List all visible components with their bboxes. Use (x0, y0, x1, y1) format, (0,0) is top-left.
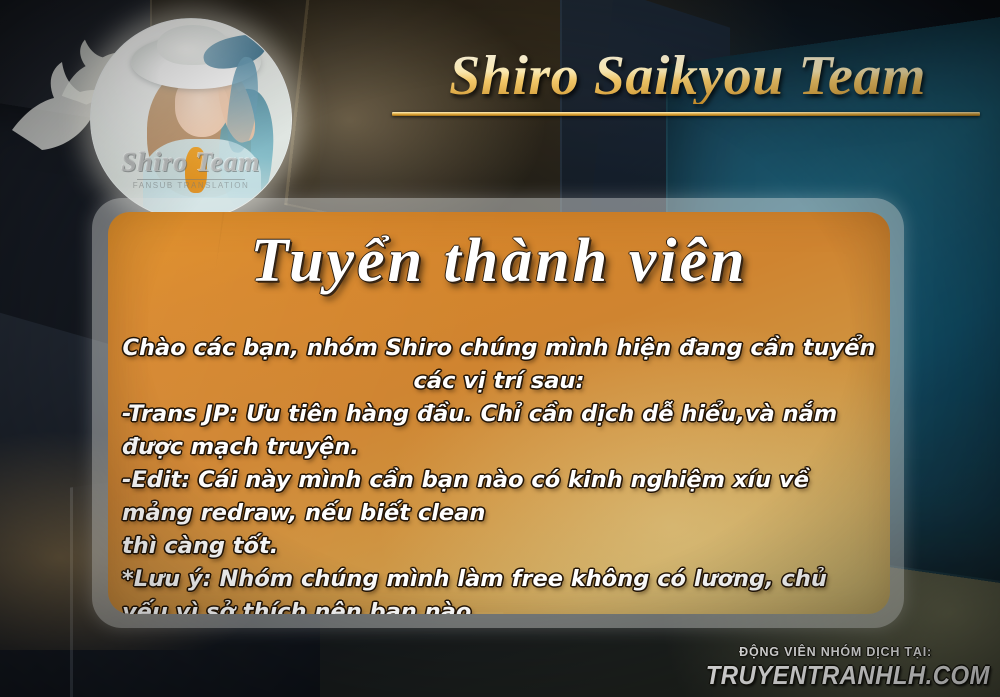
logo-wordmark: Shiro Team (91, 147, 291, 178)
footer-support-label: ĐỘNG VIÊN NHÓM DỊCH TẠI: (681, 645, 990, 659)
footer-site-name[interactable]: TRUYENTRANHLH.COM (706, 660, 990, 691)
body-line: Chào các bạn, nhóm Shiro chúng mình hiện… (122, 332, 876, 398)
logo-subtext: FANSUB TRANSLATION (91, 181, 291, 190)
announcement-page: Shiro Team FANSUB TRANSLATION Shiro Saik… (0, 0, 1000, 697)
body-line: -Edit: Cái này mình cần bạn nào có kinh … (122, 464, 876, 530)
page-title: Shiro Saikyou Team (390, 48, 985, 104)
team-logo: Shiro Team FANSUB TRANSLATION (90, 18, 292, 220)
panel-heading: Tuyển thành viên (108, 230, 890, 292)
body-line: -Trans JP: Ưu tiên hàng đầu. Chỉ cần dịc… (122, 398, 876, 464)
recruitment-panel: Tuyển thành viên Chào các bạn, nhóm Shir… (108, 212, 890, 614)
body-line: *Lưu ý: Nhóm chúng mình làm free không c… (122, 563, 876, 614)
panel-body: Chào các bạn, nhóm Shiro chúng mình hiện… (122, 332, 876, 614)
logo-divider (137, 179, 245, 180)
title-underline (392, 112, 980, 116)
footer-credit: ĐỘNG VIÊN NHÓM DỊCH TẠI: TRUYENTRANHLH.C… (681, 645, 990, 691)
body-line: thì càng tốt. (122, 530, 876, 563)
